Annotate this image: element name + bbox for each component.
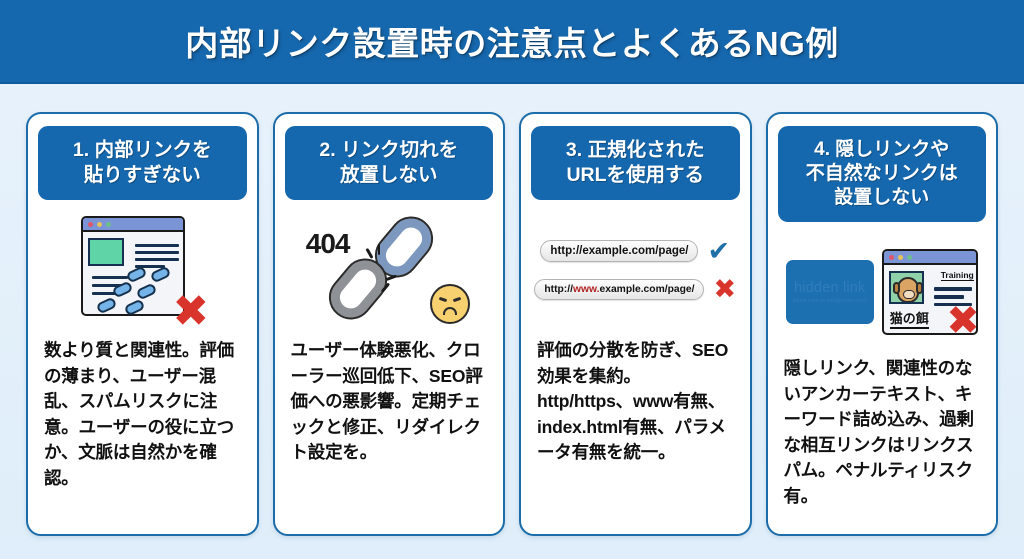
card-4-heading-line-3: 設置しない	[834, 187, 929, 208]
sad-face-mouth	[443, 307, 457, 315]
text-line	[135, 244, 179, 247]
browser-training-label: Training	[941, 270, 974, 281]
hidden-link-and-irrelevant-anchor-icon: hidden link (same color as background co…	[778, 236, 987, 348]
red-x-icon: ✖	[172, 290, 209, 334]
card-3-icon-area: http://example.com/page/ ✔ http://www.ex…	[531, 206, 740, 334]
card-1-heading-line-2: 貼りすぎない	[84, 164, 201, 186]
url-pill-canonical: http://example.com/page/	[540, 240, 698, 262]
browser-titlebar	[884, 251, 976, 265]
hidden-link-sublabel: (same color as background color)	[793, 298, 867, 304]
browser-dot-red-icon	[88, 222, 93, 227]
check-mark-icon: ✔	[707, 238, 730, 265]
browser-dot-yellow-icon	[97, 222, 102, 227]
dog-photo-icon	[889, 271, 924, 304]
card-3-body-text: 評価の分散を防ぎ、SEO効果を集約。http/https、www有無、index…	[531, 334, 740, 466]
cards-row: 1. 内部リンクを 貼りすぎない	[0, 112, 1024, 536]
break-spark-icon	[385, 274, 396, 280]
anchor-text-cat-food[interactable]: 猫の餌	[890, 308, 929, 329]
text-line	[934, 287, 972, 291]
card-2-heading: 2. リンク切れを 放置しない	[285, 126, 494, 200]
url-comparison-icon: http://example.com/page/ ✔ http://www.ex…	[531, 206, 740, 334]
sad-face-eye-right	[452, 297, 461, 302]
card-1-too-many-internal-links[interactable]: 1. 内部リンクを 貼りすぎない	[26, 112, 259, 536]
dog-illustration-icon	[897, 277, 919, 303]
card-1-heading-line-1: 1. 内部リンクを	[73, 139, 212, 161]
card-3-canonical-url[interactable]: 3. 正規化された URLを使用する http://example.com/pa…	[519, 112, 752, 536]
red-x-icon: ✖	[946, 301, 980, 341]
card-4-body-text: 隠しリンク、関連性のないアンカーテキスト、キーワード詰め込み、過剰な相互リンクは…	[778, 356, 987, 509]
break-spark-icon	[378, 244, 381, 255]
url-pill-www: http://www.example.com/page/	[534, 279, 704, 300]
browser-with-bad-anchor-icon: Training 猫の餌 ✖	[882, 249, 978, 335]
red-x-icon: ✖	[713, 276, 736, 303]
text-line	[92, 276, 128, 279]
card-2-broken-links[interactable]: 2. リンク切れを 放置しない 404	[273, 112, 506, 536]
browser-dot-yellow-icon	[898, 255, 903, 260]
break-spark-icon	[365, 248, 373, 259]
hidden-link-block-icon: hidden link (same color as background co…	[786, 260, 874, 324]
card-4-heading-line-2: 不自然なリンクは	[806, 163, 958, 184]
infographic-page: 内部リンク設置時の注意点とよくあるNG例 1. 内部リンクを 貼りすぎない	[0, 0, 1024, 559]
hidden-link-label: hidden link	[794, 280, 866, 296]
browser-with-many-links-icon: ✖	[79, 214, 205, 326]
card-3-heading: 3. 正規化された URLを使用する	[531, 126, 740, 200]
url-prefix: http://	[544, 284, 573, 295]
title-bar: 内部リンク設置時の注意点とよくあるNG例	[0, 0, 1024, 84]
url-row-bad: http://www.example.com/page/ ✖	[534, 276, 736, 303]
card-2-heading-line-2: 放置しない	[340, 164, 438, 186]
card-2-heading-line-1: 2. リンク切れを	[319, 139, 458, 161]
card-2-body-text: ユーザー体験悪化、クローラー巡回低下、SEO評価への悪影響。定期チェックと修正、…	[285, 334, 494, 466]
sad-face-icon	[430, 284, 470, 324]
image-placeholder-icon	[88, 238, 124, 266]
card-1-body-text: 数より質と関連性。評価の薄まり、ユーザー混乱、スパムリスクに注意。ユーザーの役に…	[38, 334, 247, 491]
card-4-heading-line-1: 4. 隠しリンクや	[814, 139, 949, 160]
broken-chain-404-icon: 404	[304, 214, 474, 326]
url-www-highlight: www.	[573, 284, 600, 295]
text-line	[135, 258, 179, 261]
card-4-heading: 4. 隠しリンクや 不自然なリンクは 設置しない	[778, 126, 987, 222]
browser-dot-red-icon	[889, 255, 894, 260]
error-code-404-label: 404	[306, 228, 350, 260]
card-3-heading-line-1: 3. 正規化された	[566, 139, 705, 161]
card-4-icon-area: hidden link (same color as background co…	[778, 228, 987, 356]
dog-snout	[903, 290, 915, 299]
sad-face-eye-left	[438, 297, 447, 302]
dog-ear-right	[916, 282, 923, 294]
card-2-icon-area: 404	[285, 206, 494, 334]
dog-ear-left	[893, 282, 900, 294]
card-1-heading: 1. 内部リンクを 貼りすぎない	[38, 126, 247, 200]
card-4-hidden-links[interactable]: 4. 隠しリンクや 不自然なリンクは 設置しない hidden link (sa…	[766, 112, 999, 536]
url-suffix: example.com/page/	[599, 284, 694, 295]
browser-titlebar	[83, 218, 183, 232]
browser-dot-green-icon	[106, 222, 111, 227]
text-line	[135, 251, 179, 254]
card-3-heading-line-2: URLを使用する	[566, 164, 704, 186]
card-1-icon-area: ✖	[38, 206, 247, 334]
browser-dot-green-icon	[907, 255, 912, 260]
url-row-good: http://example.com/page/ ✔	[540, 238, 730, 265]
page-title: 内部リンク設置時の注意点とよくあるNG例	[185, 17, 839, 65]
